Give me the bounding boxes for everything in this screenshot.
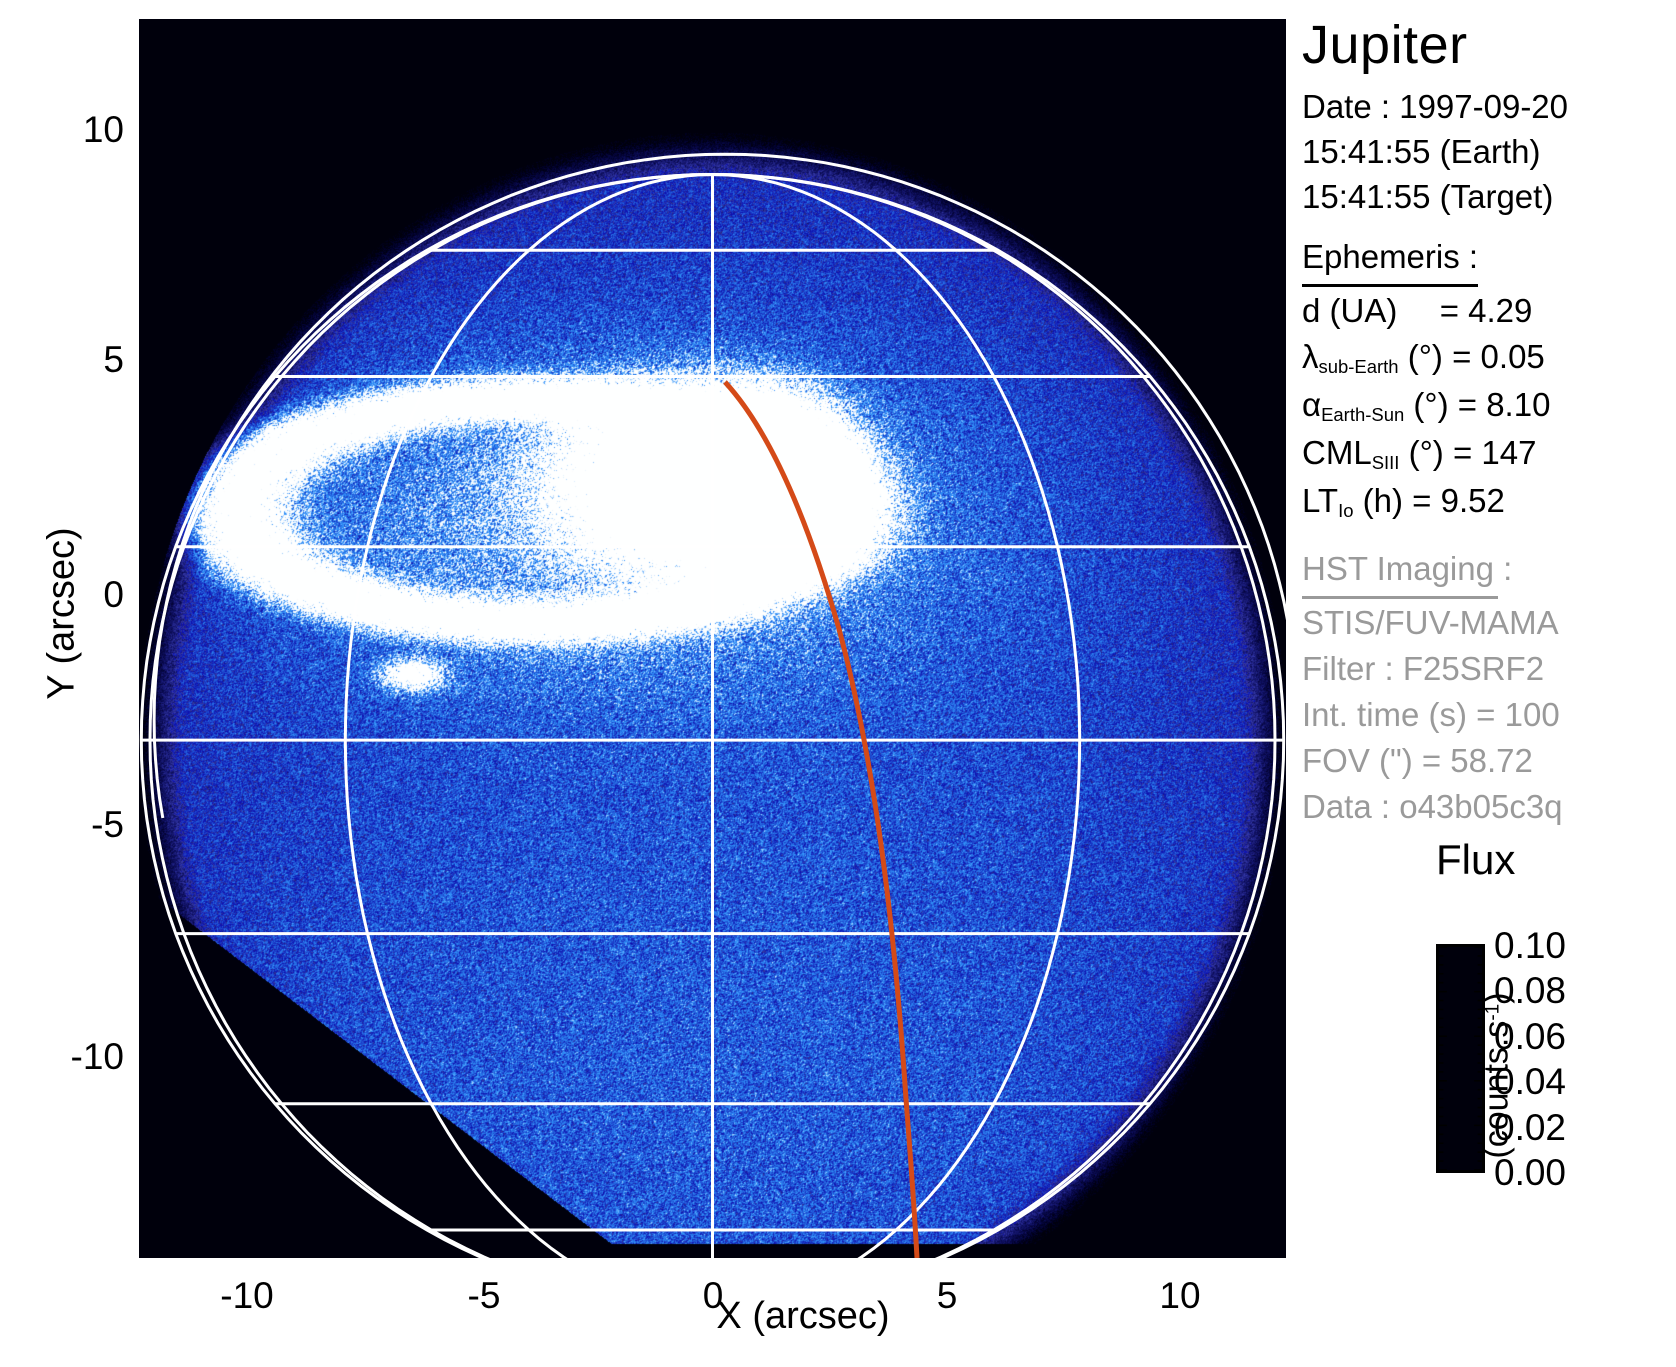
ephemeris-cml: CMLSIII (°) = 147	[1302, 434, 1536, 472]
target-title: Jupiter	[1302, 14, 1468, 76]
hst-instrument: STIS/FUV-MAMA	[1302, 604, 1559, 642]
colorbar-unit-label: (counts.s-1)	[1478, 916, 1517, 1236]
alpha-subscript: Earth-Sun	[1321, 404, 1404, 425]
cml-unit: (°)	[1409, 434, 1444, 471]
ephemeris-sub-earth-lat: λsub-Earth (°) = 0.05	[1302, 338, 1545, 376]
cml-value: = 147	[1453, 434, 1537, 471]
lambda-unit: (°)	[1408, 338, 1443, 375]
colorbar-title: Flux	[1436, 836, 1515, 884]
ephemeris-distance: d (UA) = 4.29	[1302, 292, 1532, 330]
lt-value: = 9.52	[1412, 482, 1505, 519]
colorbar-unit-text: (counts.s	[1478, 1021, 1516, 1159]
lt-label: LT	[1302, 482, 1338, 519]
observation-date: Date : 1997-09-20	[1302, 88, 1568, 126]
observation-time-target: 15:41:55 (Target)	[1302, 178, 1553, 216]
alpha-value: = 8.10	[1458, 386, 1551, 423]
x-axis-title: X (arcsec)	[653, 1295, 953, 1338]
hst-fov: FOV (") = 58.72	[1302, 742, 1533, 780]
x-tick-neg5: -5	[424, 1275, 544, 1317]
lambda-subscript: sub-Earth	[1319, 356, 1399, 377]
ephemeris-heading: Ephemeris :	[1302, 238, 1478, 276]
hst-imaging-heading: HST Imaging :	[1302, 550, 1512, 588]
colorbar-tick-marks	[1439, 947, 1482, 1170]
cml-label: CML	[1302, 434, 1372, 471]
observation-time-earth: 15:41:55 (Earth)	[1302, 133, 1540, 171]
lt-subscript: Io	[1338, 500, 1353, 521]
hst-filter: Filter : F25SRF2	[1302, 650, 1544, 688]
ephemeris-io-local-time: LTIo (h) = 9.52	[1302, 482, 1505, 520]
hst-int-time: Int. time (s) = 100	[1302, 696, 1560, 734]
x-tick-neg10: -10	[187, 1275, 307, 1317]
y-axis-title: Y (arcsec)	[41, 464, 84, 764]
ephemeris-phase-angle: αEarth-Sun (°) = 8.10	[1302, 386, 1550, 424]
alpha-symbol: α	[1302, 386, 1321, 423]
colorbar-unit-exponent: -1	[1483, 1004, 1504, 1021]
x-tick-10: 10	[1120, 1275, 1240, 1317]
lt-unit: (h)	[1363, 482, 1403, 519]
lambda-value: = 0.05	[1452, 338, 1545, 375]
distance-value: = 4.29	[1440, 292, 1533, 329]
cml-subscript: SIII	[1372, 452, 1400, 473]
ephemeris-divider	[1302, 284, 1478, 287]
colorbar-unit-paren: )	[1478, 992, 1516, 1003]
hst-dataset: Data : o43b05c3q	[1302, 788, 1563, 826]
lambda-symbol: λ	[1302, 338, 1319, 375]
hst-imaging-divider	[1302, 596, 1498, 599]
distance-label: d (UA)	[1302, 292, 1397, 329]
alpha-unit: (°)	[1413, 386, 1448, 423]
